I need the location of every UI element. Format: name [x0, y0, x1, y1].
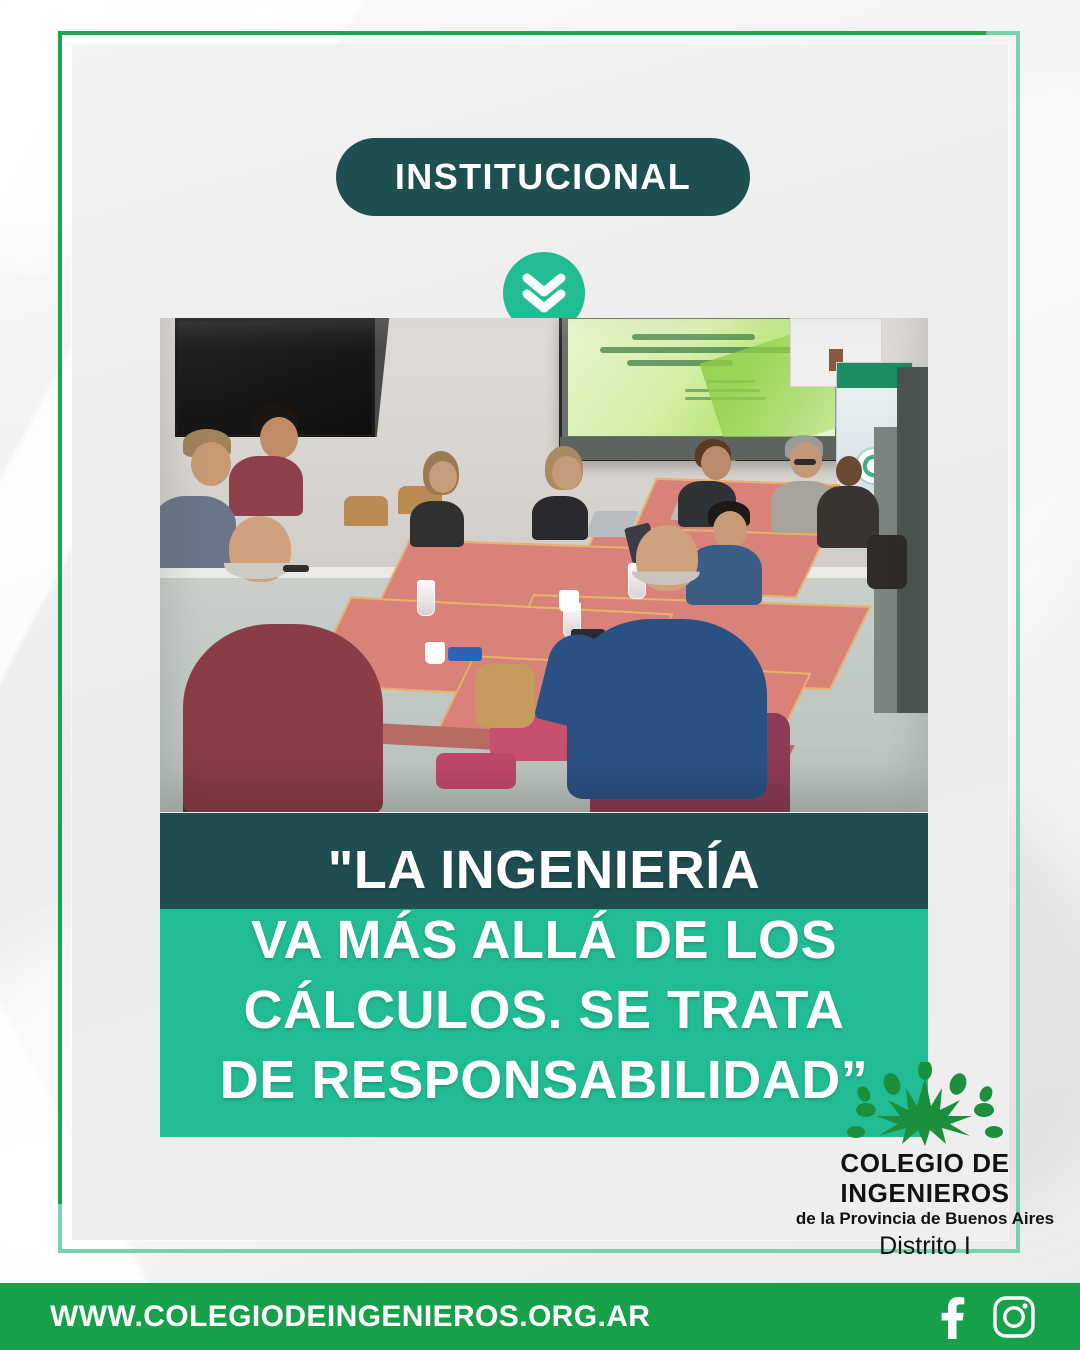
quote-line: "LA INGENIERÍA [328, 835, 761, 905]
footer-bar: WWW.COLEGIODEINGENIEROS.ORG.AR [0, 1283, 1080, 1350]
quote-line: CÁLCULOS. SE TRATA [244, 975, 845, 1045]
logo-subtitle: de la Provincia de Buenos Aires [795, 1208, 1055, 1229]
logo-title: COLEGIO DE INGENIEROS [795, 1148, 1055, 1208]
organization-logo: COLEGIO DE INGENIEROS de la Provincia de… [795, 1062, 1055, 1244]
quote-line: VA MÁS ALLÁ DE LOS [251, 905, 837, 975]
splash-logo-icon [795, 1062, 1055, 1148]
logo-district: Distrito I [795, 1231, 1055, 1261]
category-badge: INSTITUCIONAL [336, 138, 750, 216]
event-photo [160, 318, 928, 812]
photo-vignette [160, 318, 928, 812]
post-canvas: INSTITUCIONAL [0, 0, 1080, 1350]
social-links [932, 1295, 1036, 1339]
website-url[interactable]: WWW.COLEGIODEINGENIEROS.ORG.AR [50, 1300, 650, 1334]
facebook-icon[interactable] [932, 1295, 970, 1339]
instagram-icon[interactable] [992, 1295, 1036, 1339]
quote-line: DE RESPONSABILIDAD” [220, 1045, 869, 1115]
category-badge-label: INSTITUCIONAL [395, 156, 691, 198]
